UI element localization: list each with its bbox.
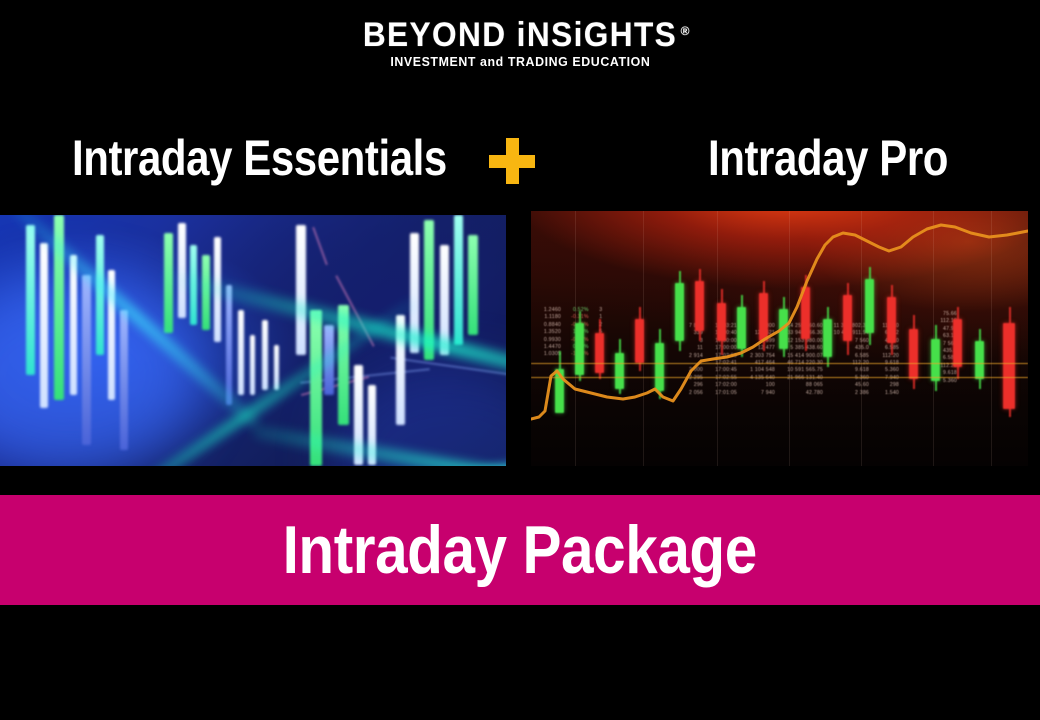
registered-trademark-icon: ® [681, 14, 690, 48]
promo-banner-canvas: BEYOND iNSiGHTS ® INVESTMENT and TRADING… [0, 0, 1040, 720]
brand-logo: BEYOND iNSiGHTS ® INVESTMENT and TRADING… [0, 18, 1040, 69]
candlestick [26, 225, 35, 375]
candlestick [262, 320, 268, 390]
candlestick [70, 255, 77, 395]
package-banner-title: Intraday Package [283, 515, 757, 585]
candlestick [226, 285, 232, 405]
candlestick [250, 335, 255, 395]
candlestick [238, 310, 244, 395]
candlestick [296, 225, 306, 355]
candlestick [96, 235, 104, 355]
chart-line [312, 227, 328, 265]
candlestick [82, 275, 91, 445]
brand-logo-insights: iNSiGHTS [517, 16, 677, 54]
orange-trend-line [531, 211, 1028, 466]
brand-logo-wordmark: BEYOND iNSiGHTS ® [363, 18, 677, 52]
candlestick [40, 243, 48, 408]
brand-logo-beyond: BEYOND [363, 16, 517, 54]
package-banner: Intraday Package [0, 495, 1040, 605]
brand-tagline: INVESTMENT and TRADING EDUCATION [390, 55, 650, 69]
course-title-essentials: Intraday Essentials [72, 130, 447, 186]
thumbnail-intraday-essentials [0, 215, 506, 466]
course-title-pro: Intraday Pro [708, 130, 948, 186]
blue-chart-artwork [0, 215, 506, 466]
plus-icon [489, 138, 535, 184]
candlestick [274, 345, 279, 390]
candlestick [468, 235, 478, 335]
thumbnail-intraday-pro: 1.2460 0.52% 3 1.1180 -0.31% 1 0.8840 -0… [531, 211, 1028, 466]
candlestick [178, 223, 186, 318]
red-terminal-artwork: 1.2460 0.52% 3 1.1180 -0.31% 1 0.8840 -0… [531, 211, 1028, 466]
candlestick [454, 215, 463, 345]
candlestick [120, 310, 128, 450]
